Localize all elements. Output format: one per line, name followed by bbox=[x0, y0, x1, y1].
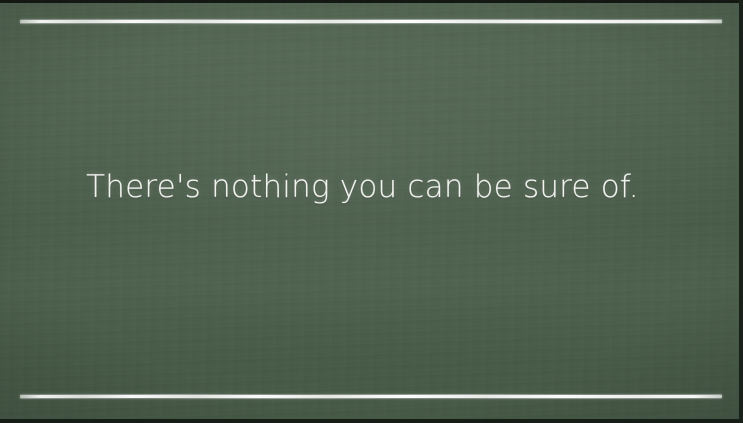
frame-edge-bottom bbox=[0, 419, 743, 423]
chalkboard-slide: There's nothing you can be sure of. bbox=[0, 0, 743, 423]
chalkboard-surface bbox=[0, 3, 739, 419]
frame-edge-right bbox=[739, 0, 743, 423]
caption-text: There's nothing you can be sure of. bbox=[0, 168, 725, 206]
top-chalk-rule bbox=[20, 20, 722, 23]
bottom-chalk-rule bbox=[20, 395, 722, 398]
